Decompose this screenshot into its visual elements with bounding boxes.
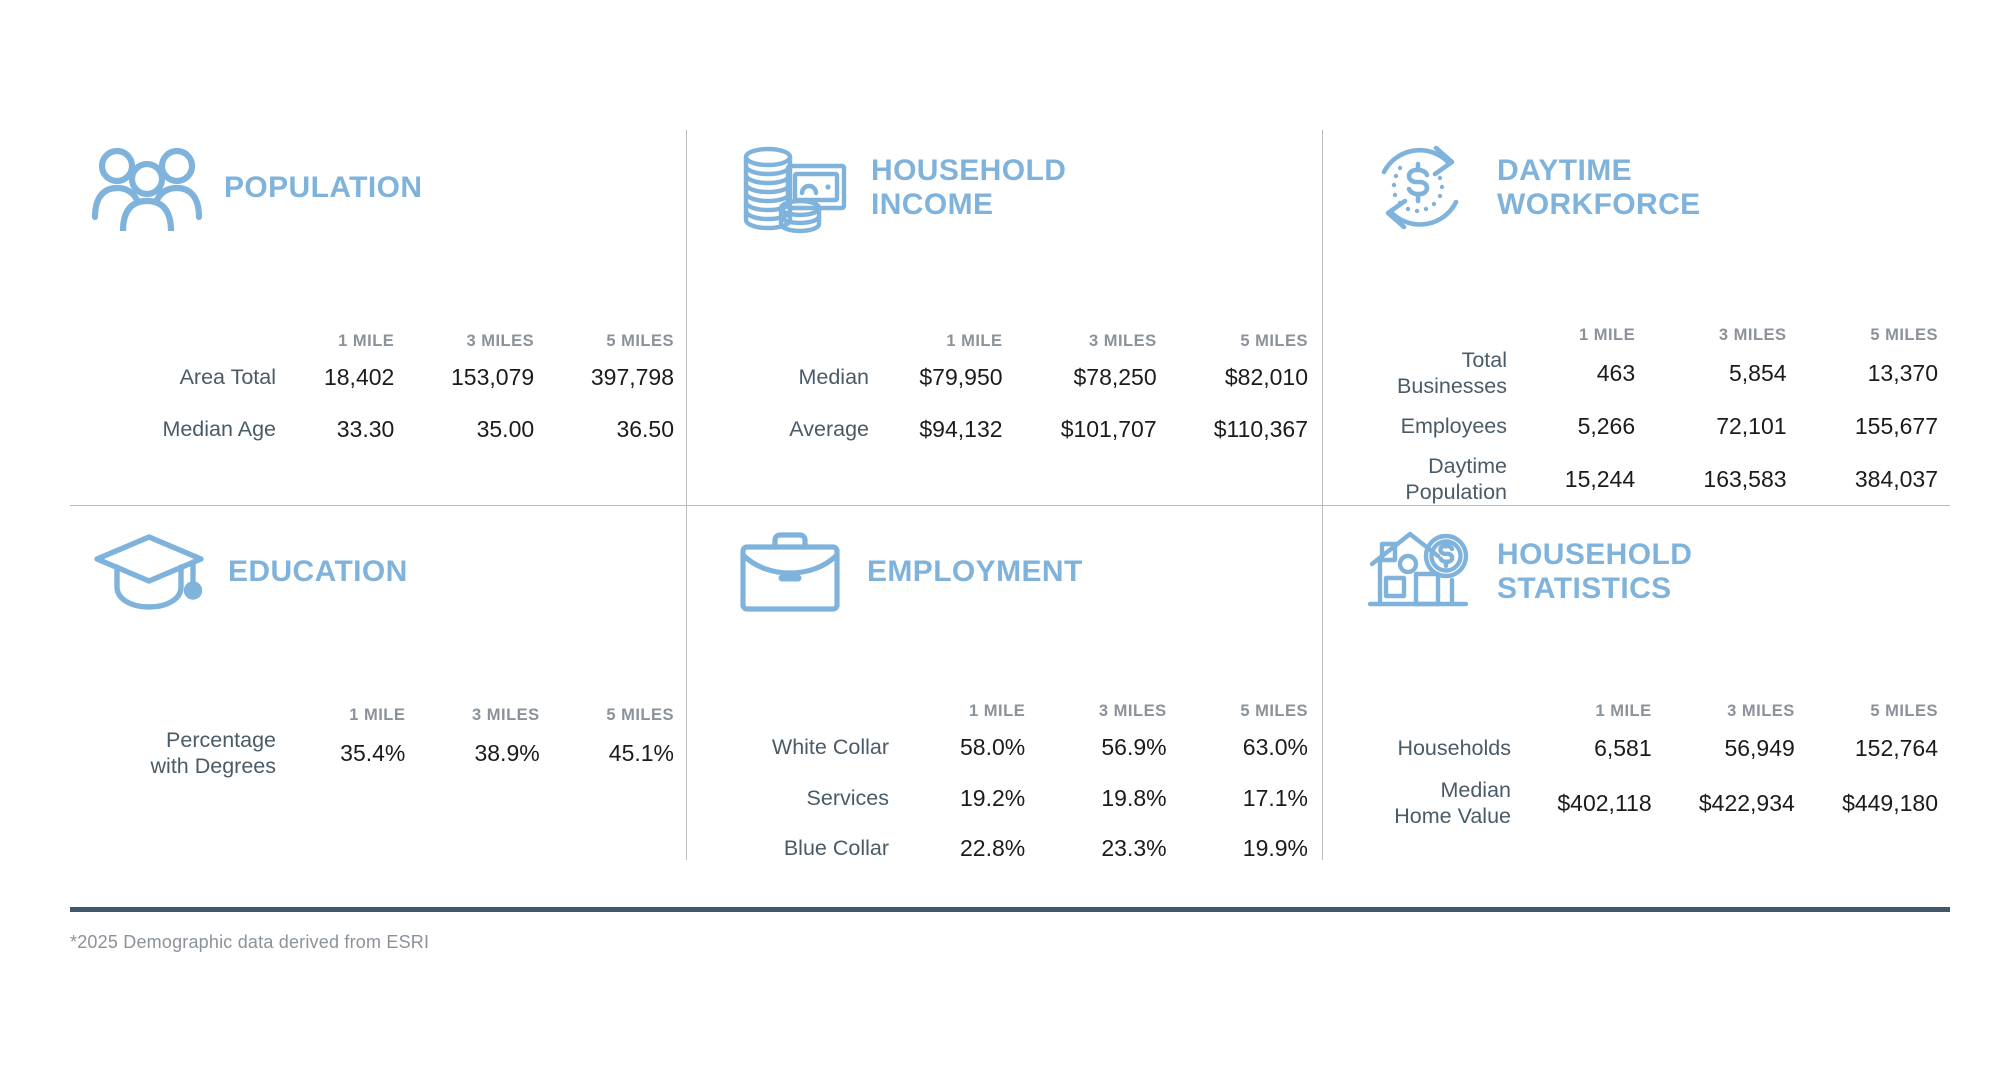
panel-header: EDUCATION (70, 506, 686, 618)
data-table: 1 MILE 3 MILES 5 MILES Median $79,950 $7… (703, 332, 1308, 455)
cell-value: 155,677 (1787, 401, 1938, 451)
cell-value: 35.00 (394, 403, 534, 455)
money-coins-icon (735, 142, 853, 234)
panel-title: HOUSEHOLD INCOME (871, 154, 1066, 221)
cell-value: $82,010 (1157, 351, 1308, 403)
column-header: 1 MILE (869, 332, 1003, 351)
cell-value: 384,037 (1787, 451, 1938, 507)
cell-value: 5,266 (1507, 401, 1635, 451)
cell-value: 22.8% (889, 823, 1025, 873)
cell-value: $110,367 (1157, 403, 1308, 455)
row-label: Median Home Value (1337, 775, 1511, 831)
column-header: 5 MILES (1157, 332, 1308, 351)
data-table: 1 MILE 3 MILES 5 MILES White Collar 58.0… (703, 702, 1308, 873)
panel-header: HOUSEHOLD STATISTICS (1323, 506, 1950, 618)
cell-value: $101,707 (1003, 403, 1157, 455)
column-header: 3 MILES (1635, 326, 1786, 345)
table-header-row: 1 MILE 3 MILES 5 MILES (80, 706, 674, 725)
cell-value: $449,180 (1795, 775, 1938, 831)
column-header: 1 MILE (889, 702, 1025, 721)
row-label: Median Age (80, 403, 276, 455)
row-label: Average (703, 403, 869, 455)
cell-value: $94,132 (869, 403, 1003, 455)
cell-value: 72,101 (1635, 401, 1786, 451)
column-header: 1 MILE (276, 706, 405, 725)
panel-title: HOUSEHOLD STATISTICS (1497, 538, 1692, 605)
cell-value: 19.9% (1167, 823, 1308, 873)
panel-title: EMPLOYMENT (867, 555, 1083, 589)
panel-household-income: HOUSEHOLD INCOME 1 MILE 3 MILES 5 MILES … (686, 130, 1322, 505)
demographics-infographic: POPULATION 1 MILE 3 MILES 5 MILES Area T… (0, 0, 2000, 1080)
footer-rule (70, 907, 1950, 912)
column-header: 3 MILES (1025, 702, 1166, 721)
column-header: 3 MILES (394, 332, 534, 351)
cell-value: 38.9% (405, 725, 539, 781)
panel-grid: POPULATION 1 MILE 3 MILES 5 MILES Area T… (70, 130, 1950, 860)
panel-household-statistics: HOUSEHOLD STATISTICS 1 MILE 3 MILES 5 MI… (1322, 505, 1950, 860)
column-header: 3 MILES (1003, 332, 1157, 351)
briefcase-icon (731, 526, 849, 618)
cell-value: 56.9% (1025, 721, 1166, 773)
column-header: 5 MILES (1795, 702, 1938, 721)
cell-value: 63.0% (1167, 721, 1308, 773)
cell-value: 36.50 (534, 403, 674, 455)
panel-daytime-workforce: DAYTIME WORKFORCE 1 MILE 3 MILES 5 MILES… (1322, 130, 1950, 505)
table-row: Median Age 33.30 35.00 36.50 (80, 403, 674, 455)
cell-value: 15,244 (1507, 451, 1635, 507)
data-table: 1 MILE 3 MILES 5 MILES Total Businesses … (1337, 326, 1938, 507)
data-table: 1 MILE 3 MILES 5 MILES Households 6,581 … (1337, 702, 1938, 831)
row-label: Total Businesses (1337, 345, 1507, 401)
cell-value: $79,950 (869, 351, 1003, 403)
table-row: Median $79,950 $78,250 $82,010 (703, 351, 1308, 403)
row-label: Daytime Population (1337, 451, 1507, 507)
table-row: Employees 5,266 72,101 155,677 (1337, 401, 1938, 451)
table-row: Median Home Value $402,118 $422,934 $449… (1337, 775, 1938, 831)
cell-value: 6,581 (1511, 721, 1652, 775)
cell-value: 152,764 (1795, 721, 1938, 775)
cell-value: 397,798 (534, 351, 674, 403)
table-row: Daytime Population 15,244 163,583 384,03… (1337, 451, 1938, 507)
panel-header: EMPLOYMENT (687, 506, 1322, 618)
cell-value: 19.2% (889, 773, 1025, 823)
table-row: Blue Collar 22.8% 23.3% 19.9% (703, 823, 1308, 873)
row-label: Employees (1337, 401, 1507, 451)
cell-value: 17.1% (1167, 773, 1308, 823)
column-header: 5 MILES (1167, 702, 1308, 721)
data-table: 1 MILE 3 MILES 5 MILES Percentage with D… (80, 706, 674, 781)
cell-value: $78,250 (1003, 351, 1157, 403)
column-header: 1 MILE (1507, 326, 1635, 345)
cell-value: 18,402 (276, 351, 394, 403)
panel-header: DAYTIME WORKFORCE (1323, 130, 1950, 234)
cell-value: 58.0% (889, 721, 1025, 773)
table-row: Total Businesses 463 5,854 13,370 (1337, 345, 1938, 401)
table-row: Percentage with Degrees 35.4% 38.9% 45.1… (80, 725, 674, 781)
column-header: 1 MILE (276, 332, 394, 351)
table-header-row: 1 MILE 3 MILES 5 MILES (703, 332, 1308, 351)
table-row: Average $94,132 $101,707 $110,367 (703, 403, 1308, 455)
row-label: Households (1337, 721, 1511, 775)
row-label: Blue Collar (703, 823, 889, 873)
table-row: Households 6,581 56,949 152,764 (1337, 721, 1938, 775)
cell-value: 33.30 (276, 403, 394, 455)
column-header: 5 MILES (534, 332, 674, 351)
cell-value: 13,370 (1787, 345, 1938, 401)
column-header: 3 MILES (1652, 702, 1795, 721)
cell-value: $422,934 (1652, 775, 1795, 831)
row-label: Median (703, 351, 869, 403)
table-header-row: 1 MILE 3 MILES 5 MILES (1337, 326, 1938, 345)
footer-note: *2025 Demographic data derived from ESRI (70, 932, 429, 953)
house-dollar-icon (1361, 526, 1479, 618)
column-header: 5 MILES (540, 706, 674, 725)
cell-value: 19.8% (1025, 773, 1166, 823)
panel-employment: EMPLOYMENT 1 MILE 3 MILES 5 MILES White … (686, 505, 1322, 860)
panel-header: HOUSEHOLD INCOME (687, 130, 1322, 234)
data-table: 1 MILE 3 MILES 5 MILES Area Total 18,402… (80, 332, 674, 455)
column-header: 5 MILES (1787, 326, 1938, 345)
panel-population: POPULATION 1 MILE 3 MILES 5 MILES Area T… (70, 130, 686, 505)
panel-education: EDUCATION 1 MILE 3 MILES 5 MILES Percent… (70, 505, 686, 860)
people-group-icon (88, 142, 206, 234)
panel-title: POPULATION (224, 171, 422, 205)
panel-title: EDUCATION (228, 555, 408, 589)
graduation-cap-icon (92, 526, 210, 618)
cell-value: 163,583 (1635, 451, 1786, 507)
table-header-row: 1 MILE 3 MILES 5 MILES (703, 702, 1308, 721)
cell-value: 45.1% (540, 725, 674, 781)
column-header: 3 MILES (405, 706, 539, 725)
row-label: White Collar (703, 721, 889, 773)
cell-value: 23.3% (1025, 823, 1166, 873)
table-header-row: 1 MILE 3 MILES 5 MILES (1337, 702, 1938, 721)
cell-value: 5,854 (1635, 345, 1786, 401)
panel-header: POPULATION (70, 130, 686, 234)
cell-value: 153,079 (394, 351, 534, 403)
table-row: Area Total 18,402 153,079 397,798 (80, 351, 674, 403)
cell-value: $402,118 (1511, 775, 1652, 831)
dollar-cycle-icon (1361, 142, 1479, 234)
table-row: Services 19.2% 19.8% 17.1% (703, 773, 1308, 823)
row-label: Percentage with Degrees (80, 725, 276, 781)
cell-value: 56,949 (1652, 721, 1795, 775)
row-label: Area Total (80, 351, 276, 403)
column-header: 1 MILE (1511, 702, 1652, 721)
row-label: Services (703, 773, 889, 823)
table-row: White Collar 58.0% 56.9% 63.0% (703, 721, 1308, 773)
cell-value: 463 (1507, 345, 1635, 401)
table-header-row: 1 MILE 3 MILES 5 MILES (80, 332, 674, 351)
cell-value: 35.4% (276, 725, 405, 781)
panel-title: DAYTIME WORKFORCE (1497, 154, 1701, 221)
